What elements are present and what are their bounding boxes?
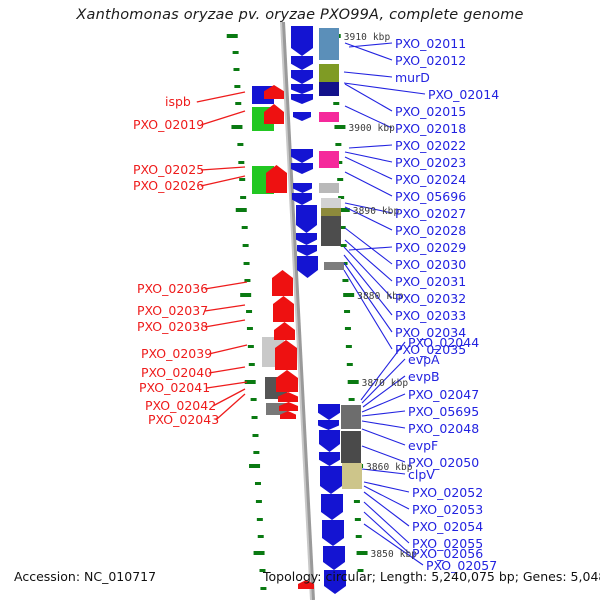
forward-gene-arrow[interactable] <box>291 56 313 70</box>
leader-line <box>349 145 392 148</box>
gene-feature-box[interactable] <box>319 82 339 96</box>
tick-mark <box>357 551 368 555</box>
tick-mark <box>247 327 253 330</box>
forward-gene-arrow[interactable] <box>291 149 313 163</box>
forward-gene-arrow[interactable] <box>291 26 313 56</box>
gene-label[interactable]: PXO_02018 <box>395 123 466 136</box>
leader-line <box>362 421 405 428</box>
gene-feature-box[interactable] <box>319 28 339 60</box>
gene-label[interactable]: evpF <box>408 440 438 453</box>
gene-label[interactable]: PXO_02028 <box>395 225 466 238</box>
leader-line <box>344 270 392 349</box>
tick-mark <box>231 125 242 129</box>
gene-label[interactable]: PXO_02025 <box>133 164 204 177</box>
reverse-gene-arrow[interactable] <box>272 270 293 296</box>
tick-mark <box>347 363 353 366</box>
scale-tick-label: 3850 kbp <box>371 549 418 562</box>
tick-mark <box>260 587 266 590</box>
gene-label[interactable]: PXO_02011 <box>395 38 466 51</box>
gene-label[interactable]: PXO_02052 <box>412 487 483 500</box>
tick-mark <box>236 208 247 212</box>
gene-feature-box[interactable] <box>319 151 339 168</box>
tick-mark <box>238 161 244 164</box>
leader-line <box>207 382 247 388</box>
gene-label[interactable]: PXO_02042 <box>145 400 216 413</box>
forward-gene-arrow[interactable] <box>291 163 313 174</box>
tick-mark <box>343 293 354 297</box>
reverse-gene-arrow[interactable] <box>276 370 298 392</box>
leader-line <box>344 72 392 77</box>
tick-mark <box>237 143 243 146</box>
gene-label[interactable]: PXO_02032 <box>395 293 466 306</box>
forward-gene-arrow[interactable] <box>319 430 340 452</box>
gene-label[interactable]: PXO_02026 <box>133 180 204 193</box>
scale-tick-label: 3860 kbp <box>366 462 413 475</box>
tick-mark <box>341 244 347 247</box>
gene-label[interactable]: PXO_05695 <box>408 406 479 419</box>
gene-label[interactable]: PXO_02053 <box>412 504 483 517</box>
reverse-gene-arrow[interactable] <box>273 296 294 322</box>
forward-gene-arrow[interactable] <box>318 420 339 430</box>
forward-gene-arrow[interactable] <box>320 466 342 494</box>
leader-line <box>364 482 409 492</box>
gene-feature-box[interactable] <box>341 405 361 429</box>
gene-feature-box[interactable] <box>341 431 361 463</box>
gene-label[interactable]: ispb <box>165 96 191 109</box>
leader-line <box>209 345 247 354</box>
leader-line <box>362 446 405 462</box>
forward-gene-arrow[interactable] <box>293 112 311 121</box>
tick-mark <box>346 345 352 348</box>
gene-label[interactable]: PXO_02019 <box>133 119 204 132</box>
genome-viewer: Xanthomonas oryzae pv. oryzae PXO99A, co… <box>0 0 600 600</box>
forward-gene-arrow[interactable] <box>322 520 344 546</box>
gene-label[interactable]: PXO_02043 <box>148 414 219 427</box>
gene-label[interactable]: evpB <box>408 371 440 384</box>
tick-mark <box>256 500 262 503</box>
accession-text: Accession: NC_010717 <box>14 569 156 584</box>
forward-gene-arrow[interactable] <box>323 546 345 570</box>
leader-line <box>209 367 245 373</box>
tick-mark <box>242 226 248 229</box>
genome-map-canvas[interactable] <box>0 0 600 600</box>
tick-mark <box>355 518 361 521</box>
forward-gene-arrow[interactable] <box>318 404 340 420</box>
tick-mark <box>233 51 239 54</box>
tick-mark <box>254 551 265 555</box>
tick-mark <box>234 85 240 88</box>
tick-mark <box>255 482 261 485</box>
leader-line <box>201 167 245 170</box>
gene-label[interactable]: PXO_02044 <box>408 337 479 350</box>
gene-label[interactable]: PXO_02014 <box>428 89 499 102</box>
gene-feature-box[interactable] <box>319 112 339 122</box>
gene-label[interactable]: PXO_02048 <box>408 423 479 436</box>
gene-label[interactable]: PXO_02036 <box>137 283 208 296</box>
gene-label[interactable]: PXO_02041 <box>139 382 210 395</box>
gene-feature-box[interactable] <box>342 463 362 489</box>
gene-label[interactable]: PXO_02039 <box>141 348 212 361</box>
gene-label[interactable]: PXO_02030 <box>395 259 466 272</box>
forward-gene-arrow[interactable] <box>321 494 343 520</box>
tick-mark <box>249 464 260 468</box>
gene-feature-box[interactable] <box>319 183 339 193</box>
scale-tick-label: 3910 kbp <box>344 32 391 45</box>
gene-label[interactable]: evpA <box>408 354 440 367</box>
forward-gene-arrow[interactable] <box>291 70 313 84</box>
tick-mark <box>337 178 343 181</box>
gene-label[interactable]: PXO_02022 <box>395 140 466 153</box>
scale-tick-label: 3890 kbp <box>353 206 400 219</box>
gene-feature-box[interactable] <box>324 262 344 270</box>
tick-mark <box>244 262 250 265</box>
forward-gene-arrow[interactable] <box>296 233 317 245</box>
gene-feature-box[interactable] <box>321 198 341 208</box>
gene-label[interactable]: PXO_05696 <box>395 191 466 204</box>
tick-mark <box>349 398 355 401</box>
tick-mark <box>344 310 350 313</box>
leader-line <box>216 394 245 420</box>
leader-line <box>364 512 409 553</box>
tick-mark <box>348 380 359 384</box>
gene-label[interactable]: PXO_02054 <box>412 521 483 534</box>
gene-label[interactable]: PXO_02023 <box>395 157 466 170</box>
gene-label[interactable]: PXO_02033 <box>395 310 466 323</box>
forward-gene-arrow[interactable] <box>296 205 317 233</box>
leader-line <box>205 282 247 289</box>
gene-feature-box[interactable] <box>319 64 339 82</box>
leader-line <box>197 92 245 102</box>
gene-label[interactable]: murD <box>395 72 430 85</box>
gene-label[interactable]: PXO_02031 <box>395 276 466 289</box>
tick-mark <box>227 34 238 38</box>
genome-summary-text: Topology: circular; Length: 5,240,075 bp… <box>263 569 600 584</box>
leader-line <box>201 176 245 186</box>
tick-mark <box>257 518 263 521</box>
tick-mark <box>233 68 239 71</box>
leader-line <box>201 111 245 125</box>
tick-mark <box>251 398 257 401</box>
gene-label[interactable]: PXO_02040 <box>141 367 212 380</box>
leader-line <box>205 305 245 311</box>
forward-gene-arrow[interactable] <box>291 84 313 94</box>
gene-label[interactable]: PXO_02015 <box>395 106 466 119</box>
gene-label[interactable]: PXO_02012 <box>395 55 466 68</box>
gene-feature-box[interactable] <box>321 216 341 246</box>
forward-gene-arrow[interactable] <box>292 193 312 205</box>
gene-label[interactable]: PXO_02024 <box>395 174 466 187</box>
tick-mark <box>335 143 341 146</box>
tick-mark <box>239 178 245 181</box>
forward-gene-arrow[interactable] <box>293 183 312 193</box>
forward-gene-arrow[interactable] <box>297 245 317 256</box>
forward-gene-arrow[interactable] <box>297 256 318 278</box>
tick-mark <box>334 125 345 129</box>
tick-mark <box>253 451 259 454</box>
gene-label[interactable]: PXO_02029 <box>395 242 466 255</box>
reverse-gene-arrow[interactable] <box>274 322 295 340</box>
tick-mark <box>356 535 362 538</box>
tick-mark <box>345 327 351 330</box>
gene-label[interactable]: PXO_02038 <box>137 321 208 334</box>
gene-label[interactable]: PXO_02027 <box>395 208 466 221</box>
tick-mark <box>249 363 255 366</box>
leader-line <box>205 320 245 327</box>
gene-feature-box[interactable] <box>321 208 341 216</box>
tick-mark <box>246 310 252 313</box>
leader-line <box>362 411 405 416</box>
tick-mark <box>240 293 251 297</box>
tick-mark <box>240 196 246 199</box>
forward-gene-arrow[interactable] <box>319 452 340 466</box>
tick-mark <box>244 279 250 282</box>
tick-mark <box>248 345 254 348</box>
tick-mark <box>252 416 258 419</box>
tick-mark <box>235 102 241 105</box>
gene-label[interactable]: clpV <box>408 469 435 482</box>
tick-mark <box>252 434 258 437</box>
tick-mark <box>333 102 339 105</box>
leader-line <box>364 502 409 543</box>
tick-mark <box>258 535 264 538</box>
tick-mark <box>354 500 360 503</box>
scale-tick-label: 3900 kbp <box>348 123 395 136</box>
tick-mark <box>342 279 348 282</box>
leader-line <box>344 255 392 315</box>
leader-line <box>362 429 405 445</box>
forward-gene-arrow[interactable] <box>291 94 313 104</box>
scale-tick-label: 3870 kbp <box>362 378 409 391</box>
tick-mark <box>243 244 249 247</box>
gene-label[interactable]: PXO_02047 <box>408 389 479 402</box>
gene-label[interactable]: PXO_02037 <box>137 305 208 318</box>
